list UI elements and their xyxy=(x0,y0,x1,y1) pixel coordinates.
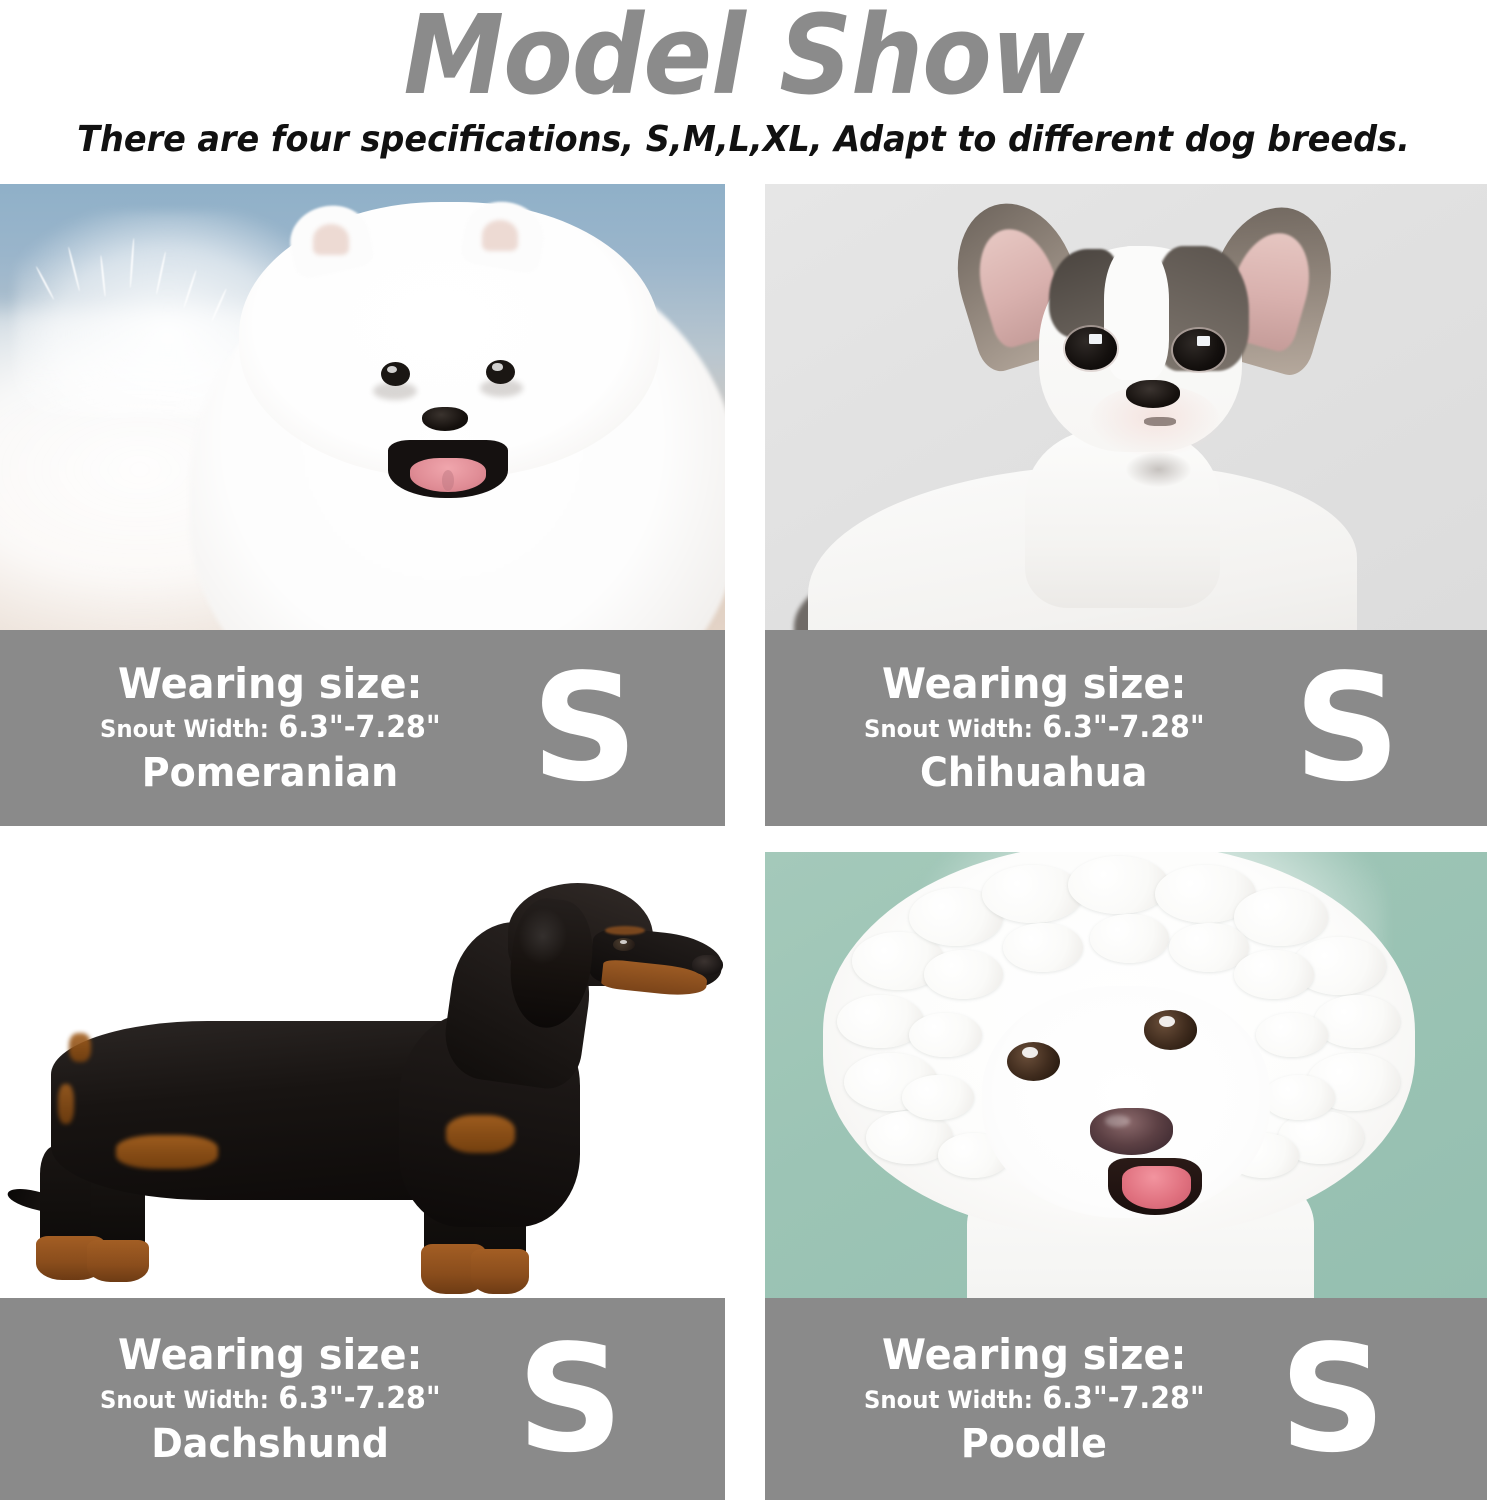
fur-curl xyxy=(909,1013,981,1058)
front-right-paw xyxy=(471,1249,529,1294)
fur-curl xyxy=(1256,1013,1328,1058)
breed-card-pomeranian: Wearing size: Snout Width:6.3"-7.28" Pom… xyxy=(0,184,725,826)
snout-width-row: Snout Width:6.3"-7.28" xyxy=(864,713,1205,744)
snout-width-label: Snout Width: xyxy=(864,715,1033,743)
chihuahua-photo xyxy=(765,184,1487,630)
page-subtitle: There are four specifications, S,M,L,XL,… xyxy=(52,118,1435,162)
caption-bar-pomeranian: Wearing size: Snout Width:6.3"-7.28" Pom… xyxy=(0,630,725,826)
fur-curl xyxy=(1234,888,1328,946)
wearing-size-label: Wearing size: xyxy=(882,659,1186,709)
tongue xyxy=(1122,1166,1191,1208)
tan-marking xyxy=(69,1033,91,1062)
snout-width-value: 6.3"-7.28" xyxy=(1042,710,1204,745)
header: Model Show There are four specifications… xyxy=(0,0,1487,178)
size-badge: S xyxy=(1279,1325,1386,1473)
snout-width-row: Snout Width:6.3"-7.28" xyxy=(864,1384,1205,1415)
back-right-paw xyxy=(87,1240,149,1282)
left-eye xyxy=(381,362,410,386)
breed-name: Pomeranian xyxy=(142,749,398,797)
snout-width-row: Snout Width:6.3"-7.28" xyxy=(100,1384,441,1415)
tan-marking xyxy=(58,1084,74,1124)
snout-width-value: 6.3"-7.28" xyxy=(1042,1381,1204,1416)
tan-marking xyxy=(446,1115,515,1153)
snout-width-value: 6.3"-7.28" xyxy=(278,710,440,745)
snout-width-label: Snout Width: xyxy=(100,1386,269,1414)
breed-card-chihuahua: Wearing size: Snout Width:6.3"-7.28" Chi… xyxy=(765,184,1487,826)
right-eye xyxy=(486,360,515,384)
fur-curl xyxy=(1234,950,1313,999)
fur-curl xyxy=(902,1075,974,1120)
forehead-blaze xyxy=(1104,246,1169,380)
fur-curl xyxy=(924,950,1003,999)
nose xyxy=(1090,1108,1173,1155)
size-badge: S xyxy=(517,1325,624,1473)
snout-width-row: Snout Width:6.3"-7.28" xyxy=(100,713,441,744)
breed-card-dachshund: Wearing size: Snout Width:6.3"-7.28" Dac… xyxy=(0,852,725,1500)
tan-marking xyxy=(116,1135,218,1168)
tongue xyxy=(410,458,486,492)
breed-card-grid: Wearing size: Snout Width:6.3"-7.28" Pom… xyxy=(0,184,1487,1500)
pomeranian-photo xyxy=(0,184,725,630)
chin-shading xyxy=(1126,452,1191,488)
eye xyxy=(613,938,635,951)
fur-curl xyxy=(1263,1075,1335,1120)
caption-bar-poodle: Wearing size: Snout Width:6.3"-7.28" Poo… xyxy=(765,1298,1487,1500)
size-badge: S xyxy=(531,654,638,802)
model-show-infographic: Model Show There are four specifications… xyxy=(0,0,1487,1500)
caption-bar-dachshund: Wearing size: Snout Width:6.3"-7.28" Dac… xyxy=(0,1298,725,1500)
wearing-size-label: Wearing size: xyxy=(118,659,422,709)
wearing-size-label: Wearing size: xyxy=(882,1330,1186,1380)
nose xyxy=(422,407,468,431)
right-inner-ear xyxy=(482,220,518,251)
right-eye xyxy=(1173,329,1225,372)
left-inner-ear xyxy=(313,224,349,255)
fur-curl xyxy=(982,865,1083,923)
wearing-size-label: Wearing size: xyxy=(118,1330,422,1380)
breed-card-poodle: Wearing size: Snout Width:6.3"-7.28" Poo… xyxy=(765,852,1487,1500)
caption-text-block: Wearing size: Snout Width:6.3"-7.28" Pom… xyxy=(0,630,537,826)
breed-name: Chihuahua xyxy=(920,749,1147,797)
mouth xyxy=(1144,417,1176,426)
caption-text-block: Wearing size: Snout Width:6.3"-7.28" Chi… xyxy=(765,630,1299,826)
snout-width-label: Snout Width: xyxy=(100,715,269,743)
caption-bar-chihuahua: Wearing size: Snout Width:6.3"-7.28" Chi… xyxy=(765,630,1487,826)
nose xyxy=(692,955,722,976)
nose xyxy=(1126,380,1180,408)
breed-name: Dachshund xyxy=(151,1420,389,1468)
page-title: Model Show xyxy=(59,0,1427,114)
breed-name: Poodle xyxy=(961,1420,1107,1468)
left-eye xyxy=(1007,1042,1060,1081)
right-eye xyxy=(1144,1010,1197,1049)
caption-text-block: Wearing size: Snout Width:6.3"-7.28" Poo… xyxy=(765,1298,1299,1500)
snout-width-label: Snout Width: xyxy=(864,1386,1033,1414)
poodle-photo xyxy=(765,852,1487,1298)
dachshund-photo xyxy=(0,852,725,1298)
caption-text-block: Wearing size: Snout Width:6.3"-7.28" Dac… xyxy=(0,1298,537,1500)
eyebrow-marking xyxy=(605,926,646,935)
left-eye xyxy=(1065,327,1117,370)
snout-width-value: 6.3"-7.28" xyxy=(278,1381,440,1416)
dog-neck xyxy=(1025,429,1220,607)
size-badge: S xyxy=(1294,654,1401,802)
fur-curl xyxy=(1003,923,1082,972)
